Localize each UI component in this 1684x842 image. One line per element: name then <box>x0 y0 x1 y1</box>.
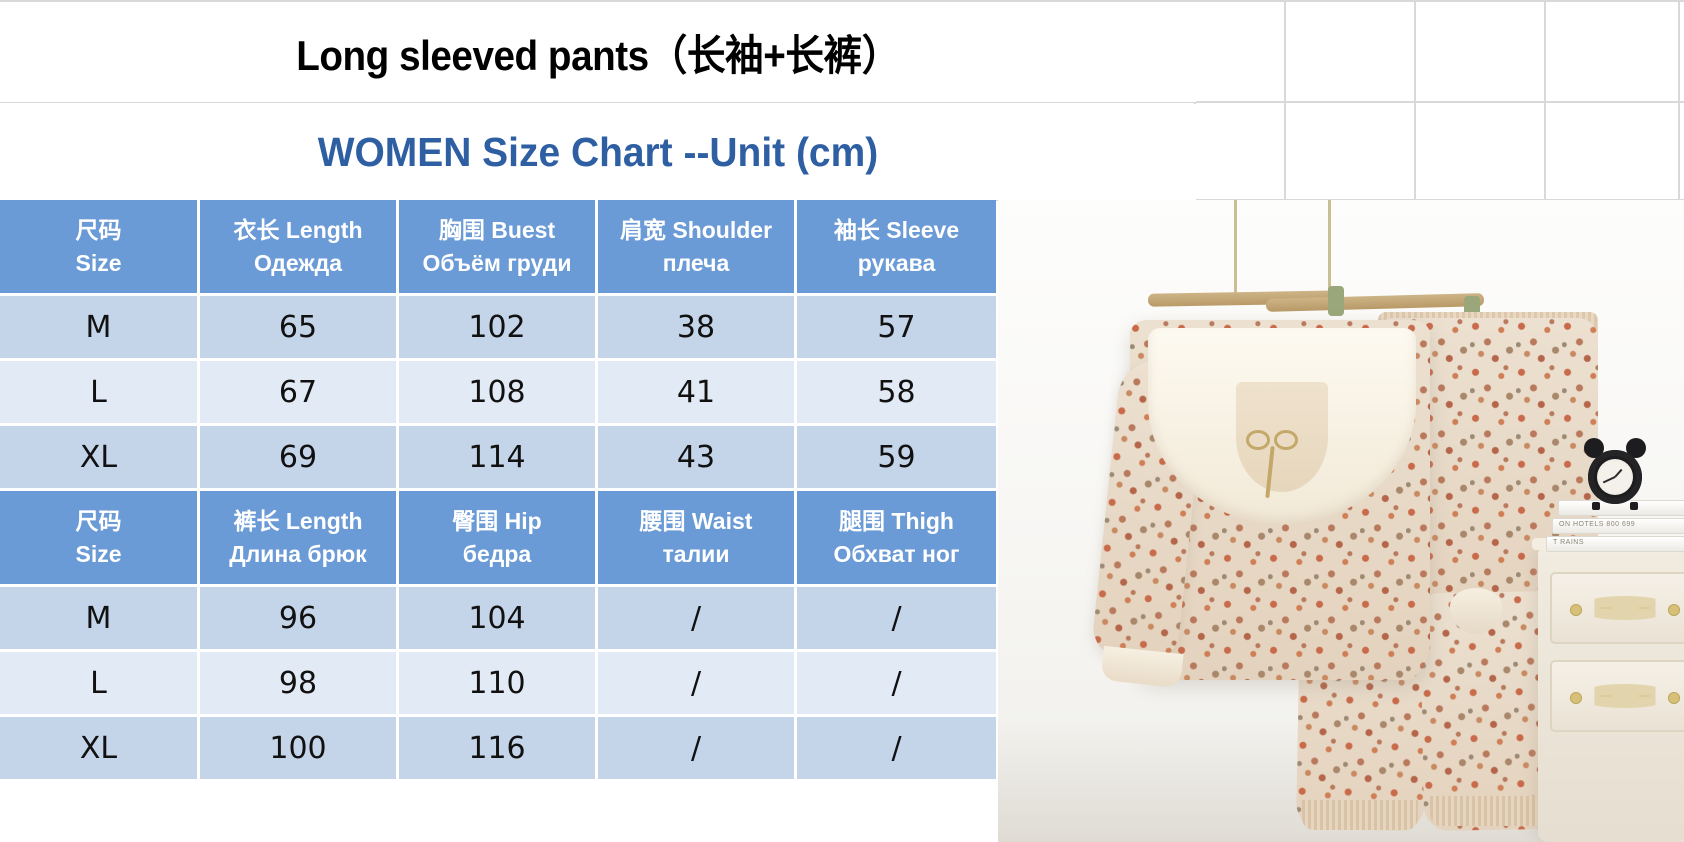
drawer-knob <box>1570 692 1582 704</box>
grid-line-vertical <box>1678 0 1680 199</box>
header-line-1: 裤长 Length <box>200 505 396 538</box>
cell-thigh: / <box>797 717 996 782</box>
nightstand-furniture <box>1538 548 1684 842</box>
header-line-2: Size <box>0 247 197 280</box>
header-line-2: Объём груди <box>399 247 595 280</box>
header-line-2: бедра <box>399 538 595 571</box>
header-cell-sleeve: 袖长 Sleeve рукава <box>797 200 996 296</box>
cell-bust: 102 <box>399 296 598 361</box>
clock-foot <box>1592 502 1600 510</box>
cell-size: L <box>0 361 200 426</box>
grid-line-vertical <box>1414 0 1416 199</box>
cell-shoulder: 41 <box>598 361 797 426</box>
drawer-knob <box>1668 692 1680 704</box>
cell-pant-length: 98 <box>200 652 399 717</box>
cell-sleeve: 57 <box>797 296 996 361</box>
nightstand-drawer <box>1550 660 1684 732</box>
table-row: L 67 108 41 58 <box>0 361 996 426</box>
clock-minute-hand <box>1603 476 1616 483</box>
product-photo: ON HOTELS 800 699 T RAINS <box>998 200 1684 842</box>
clock-dial <box>1597 459 1633 495</box>
header-line-2: Длина брюк <box>200 538 396 571</box>
header-cell-size: 尺码 Size <box>0 200 200 296</box>
grid-line-vertical <box>1284 0 1286 199</box>
drawer-knob <box>1570 604 1582 616</box>
book: T RAINS <box>1546 536 1684 552</box>
cell-pant-length: 96 <box>200 587 399 652</box>
cell-hip: 110 <box>399 652 598 717</box>
cell-thigh: / <box>797 652 996 717</box>
header-cell-size: 尺码 Size <box>0 491 200 587</box>
header-line-2: рукава <box>797 247 996 280</box>
header-cell-bust: 胸围 Buest Объём груди <box>399 200 598 296</box>
cell-bust: 114 <box>399 426 598 491</box>
cell-shoulder: 38 <box>598 296 797 361</box>
pants-ankle-cuff <box>1430 796 1546 826</box>
header-line-1: 肩宽 Shoulder <box>598 214 794 247</box>
clock-face <box>1588 450 1642 504</box>
cell-hip: 104 <box>399 587 598 652</box>
header-cell-pant-length: 裤长 Length Длина брюк <box>200 491 399 587</box>
header-line-2: Size <box>0 538 197 571</box>
table-row: L 98 110 / / <box>0 652 996 717</box>
header-cell-hip: 臀围 Hip бедра <box>399 491 598 587</box>
cell-size: M <box>0 296 200 361</box>
bow-loop <box>1274 430 1298 450</box>
cell-waist: / <box>598 587 797 652</box>
header-cell-length: 衣长 Length Одежда <box>200 200 399 296</box>
header-line-1: 尺码 <box>0 505 197 538</box>
header-line-1: 胸围 Buest <box>399 214 595 247</box>
header-line-2: Обхват ног <box>797 538 996 571</box>
cell-length: 67 <box>200 361 399 426</box>
alarm-clock-icon <box>1584 438 1646 504</box>
table-header-row-top: 尺码 Size 衣长 Length Одежда 胸围 Buest Объём … <box>0 200 996 296</box>
book-label: T RAINS <box>1553 539 1584 546</box>
header-line-2: плеча <box>598 247 794 280</box>
cell-sleeve: 59 <box>797 426 996 491</box>
cell-size: M <box>0 587 200 652</box>
header-line-1: 袖长 Sleeve <box>797 214 996 247</box>
cell-size: XL <box>0 717 200 782</box>
ribbon-bow-icon <box>1246 430 1298 456</box>
book-stack: ON HOTELS 800 699 T RAINS <box>1558 500 1684 554</box>
hanger-hook-icon <box>1234 200 1237 296</box>
header-line-2: Одежда <box>200 247 396 280</box>
cell-length: 65 <box>200 296 399 361</box>
cell-size: L <box>0 652 200 717</box>
clock-hour-hand <box>1614 469 1622 478</box>
header-line-2: талии <box>598 538 794 571</box>
cell-length: 69 <box>200 426 399 491</box>
cell-hip: 116 <box>399 717 598 782</box>
header-cell-shoulder: 肩宽 Shoulder плеча <box>598 200 797 296</box>
book-label: ON HOTELS 800 699 <box>1559 521 1635 528</box>
size-chart-page: Long sleeved pants（长袖+长裤） WOMEN Size Cha… <box>0 0 1684 842</box>
pants-ankle-cuff <box>1302 800 1418 830</box>
cell-bust: 108 <box>399 361 598 426</box>
table-header-row-bottom: 尺码 Size 裤长 Length Длина брюк 臀围 Hip бедр… <box>0 491 996 587</box>
product-title: Long sleeved pants（长袖+长裤） <box>296 22 900 83</box>
cell-pant-length: 100 <box>200 717 399 782</box>
header-line-1: 尺码 <box>0 214 197 247</box>
chart-subtitle: WOMEN Size Chart --Unit (cm) <box>318 129 878 176</box>
header-line-1: 衣长 Length <box>200 214 396 247</box>
cell-waist: / <box>598 652 797 717</box>
table-row: M 96 104 / / <box>0 587 996 652</box>
table-row: M 65 102 38 57 <box>0 296 996 361</box>
ornament-scroll <box>1577 684 1673 708</box>
nightstand-drawer <box>1550 572 1684 644</box>
clock-foot <box>1630 502 1638 510</box>
header-cell-waist: 腰围 Waist талии <box>598 491 797 587</box>
chart-subtitle-cell: WOMEN Size Chart --Unit (cm) <box>0 104 1196 200</box>
hanger-hook-icon <box>1328 200 1331 300</box>
cell-sleeve: 58 <box>797 361 996 426</box>
header-line-1: 腿围 Thigh <box>797 505 996 538</box>
header-line-1: 腰围 Waist <box>598 505 794 538</box>
hanger-clip <box>1328 286 1344 316</box>
table-row: XL 100 116 / / <box>0 717 996 782</box>
ornament-scroll <box>1577 596 1673 620</box>
drawer-knob <box>1668 604 1680 616</box>
cell-waist: / <box>598 717 797 782</box>
size-chart-table: 尺码 Size 衣长 Length Одежда 胸围 Buest Объём … <box>0 200 996 782</box>
book: ON HOTELS 800 699 <box>1552 518 1684 534</box>
header-cell-thigh: 腿围 Thigh Обхват ног <box>797 491 996 587</box>
cell-thigh: / <box>797 587 996 652</box>
bow-loop <box>1246 430 1270 450</box>
grid-line-vertical <box>1544 0 1546 199</box>
cell-size: XL <box>0 426 200 491</box>
cell-shoulder: 43 <box>598 426 797 491</box>
product-title-cell: Long sleeved pants（长袖+长裤） <box>0 2 1196 102</box>
header-line-1: 臀围 Hip <box>399 505 595 538</box>
table-row: XL 69 114 43 59 <box>0 426 996 491</box>
